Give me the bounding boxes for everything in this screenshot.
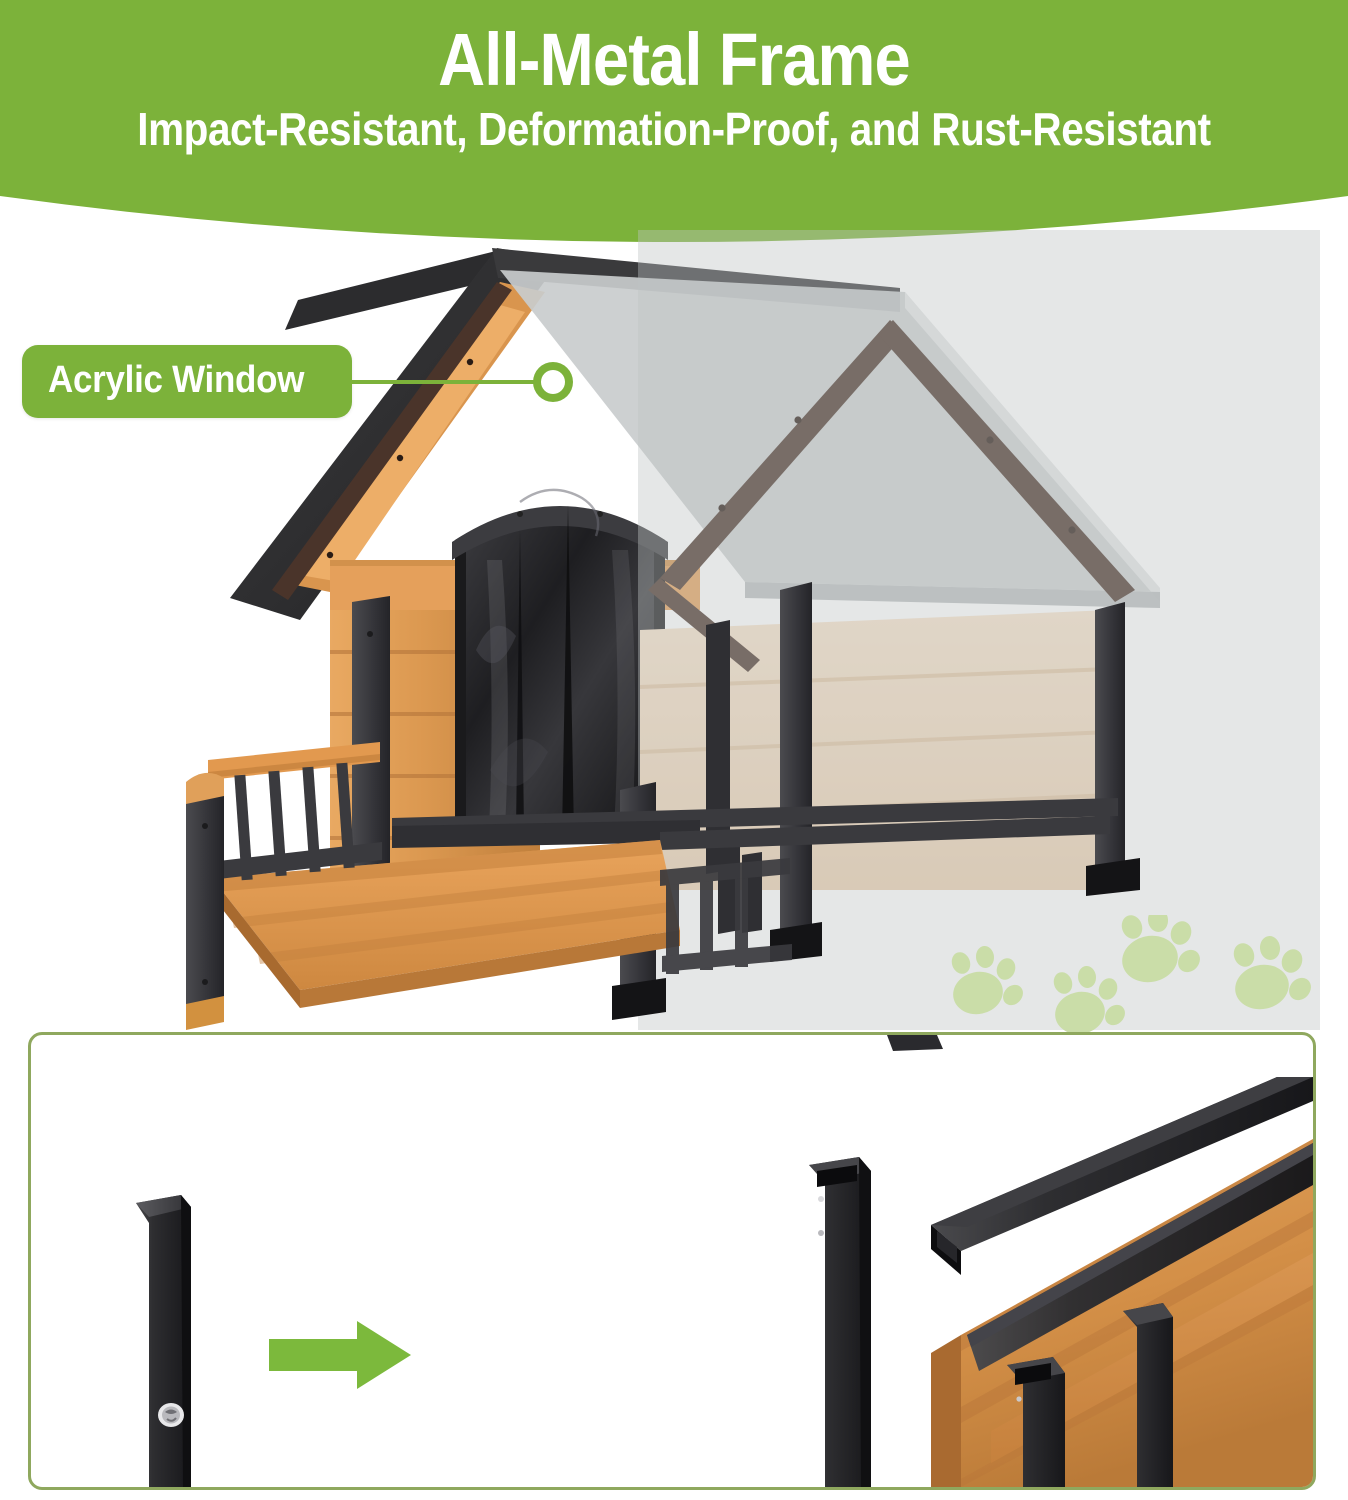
paw-prints-svg: [940, 915, 1320, 1035]
paw-print: [1051, 965, 1129, 1035]
paw-print: [949, 945, 1027, 1019]
acrylic-window-callout[interactable]: Acrylic Window: [22, 345, 573, 418]
banner-background-shape: [0, 0, 1348, 260]
callout-connector-line: [352, 380, 537, 384]
detail-panel: [28, 1032, 1316, 1490]
frame-assembly-detail: [31, 1035, 1313, 1487]
callout-target-dot: [533, 362, 573, 402]
callout-label: Acrylic Window: [48, 359, 304, 402]
metal-cap-piece: [887, 1035, 943, 1051]
screw-icon: [158, 1403, 184, 1427]
installed-post-left: [809, 1157, 871, 1487]
arrow-icon: [269, 1321, 411, 1389]
callout-pill: Acrylic Window: [22, 345, 352, 418]
paw-print: [1118, 915, 1205, 987]
header-banner: All-Metal Frame Impact-Resistant, Deform…: [0, 0, 1348, 260]
paw-print: [1230, 935, 1315, 1014]
paw-print-decoration: [940, 915, 1320, 1035]
loose-metal-post: [136, 1195, 191, 1487]
